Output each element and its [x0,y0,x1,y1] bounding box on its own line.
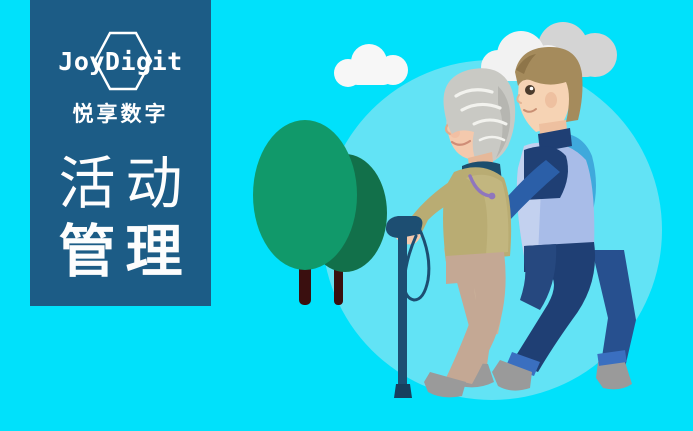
logo: JoyDigit [46,30,196,92]
logo-chinese-name: 悦享数字 [73,98,169,128]
brand-panel: JoyDigit 悦享数字 活动 管理 [30,0,211,306]
page-title: 活动 管理 [49,150,193,286]
poster-canvas: JoyDigit 悦享数字 活动 管理 [0,0,693,431]
page-title-line-1: 活动 [49,150,193,218]
page-title-line-2: 管理 [49,218,193,286]
logo-wordmark: JoyDigit [46,30,196,92]
